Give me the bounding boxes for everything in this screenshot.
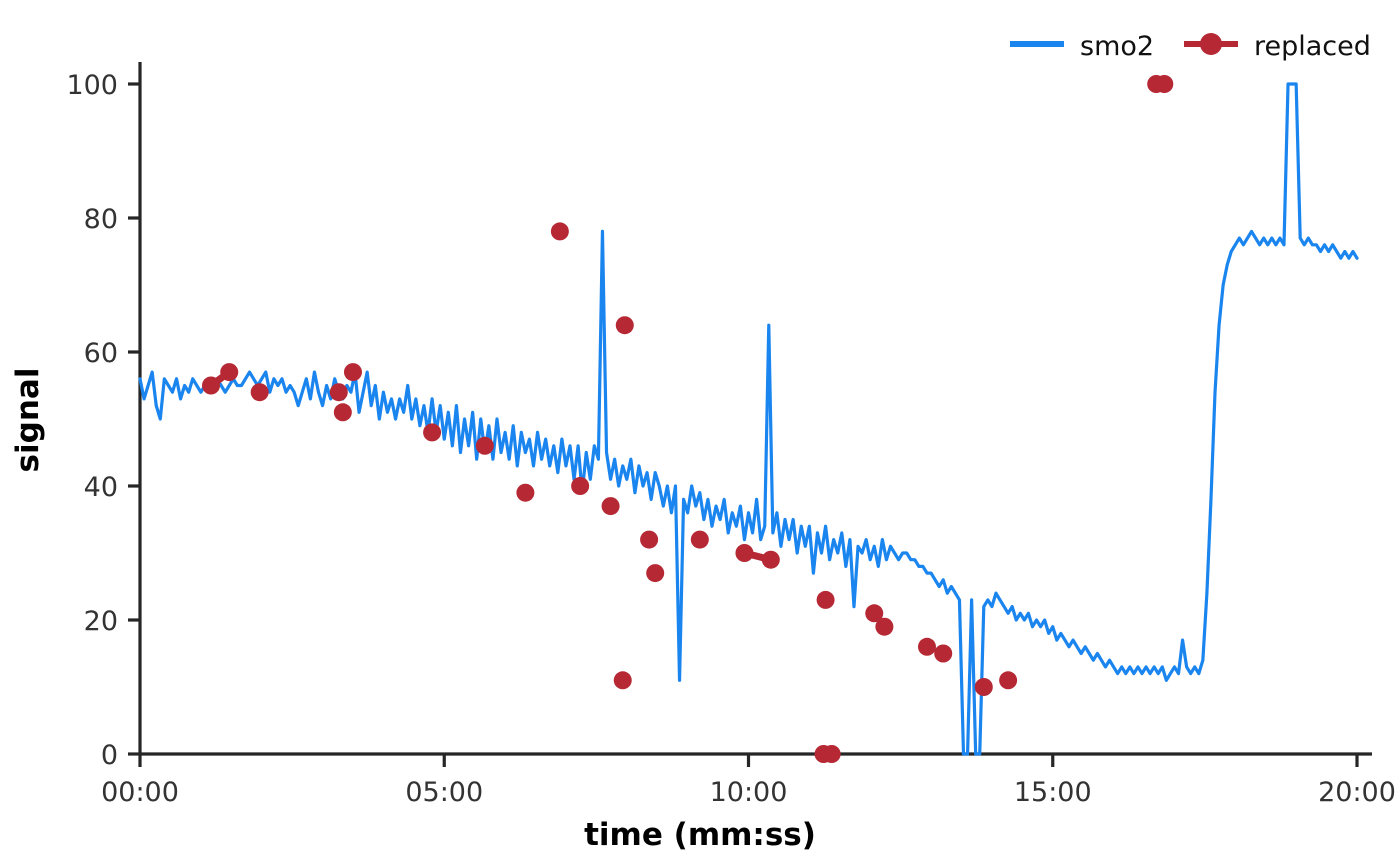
replaced-marker[interactable] [602,497,620,515]
smo2-line [140,84,1357,754]
x-tick-label: 20:00 [1318,777,1396,808]
replaced-marker[interactable] [423,423,441,441]
y-tick-label: 60 [84,338,118,369]
replaced-marker[interactable] [735,544,753,562]
x-tick-label: 05:00 [405,777,483,808]
y-tick-label: 100 [66,70,118,101]
y-tick-label: 40 [84,472,118,503]
legend-marker-icon [1200,33,1222,55]
replaced-marker[interactable] [330,383,348,401]
replaced-marker[interactable] [551,222,569,240]
replaced-marker[interactable] [220,363,238,381]
legend-label-smo2: smo2 [1080,31,1154,62]
replaced-marker[interactable] [823,745,841,763]
legend-label-replaced: replaced [1254,31,1371,62]
replaced-marker[interactable] [975,678,993,696]
replaced-marker[interactable] [875,618,893,636]
replaced-marker[interactable] [691,531,709,549]
y-axis-title: signal [10,368,46,473]
y-tick-label: 80 [84,204,118,235]
replaced-marker[interactable] [476,437,494,455]
x-tick-label: 10:00 [710,777,788,808]
replaced-marker[interactable] [1155,75,1173,93]
replaced-marker[interactable] [918,638,936,656]
replaced-marker[interactable] [616,316,634,334]
replaced-marker[interactable] [646,564,664,582]
replaced-marker[interactable] [334,403,352,421]
x-tick-label: 00:00 [101,777,179,808]
y-tick-label: 20 [84,606,118,637]
replaced-marker[interactable] [934,645,952,663]
replaced-marker[interactable] [251,383,269,401]
y-tick-label: 0 [101,740,118,771]
replaced-marker[interactable] [516,484,534,502]
replaced-marker[interactable] [640,531,658,549]
chart-figure: 02040608010000:0005:0010:0015:0020:00tim… [0,0,1400,866]
replaced-marker[interactable] [762,551,780,569]
x-tick-label: 15:00 [1014,777,1092,808]
replaced-marker[interactable] [614,671,632,689]
replaced-marker[interactable] [344,363,362,381]
chart-legend: smo2replaced [1010,31,1371,62]
x-axis-title: time (mm:ss) [584,817,816,853]
replaced-marker[interactable] [202,377,220,395]
replaced-marker[interactable] [571,477,589,495]
replaced-marker[interactable] [999,671,1017,689]
signal-time-line-chart: 02040608010000:0005:0010:0015:0020:00tim… [0,0,1400,866]
replaced-marker[interactable] [817,591,835,609]
